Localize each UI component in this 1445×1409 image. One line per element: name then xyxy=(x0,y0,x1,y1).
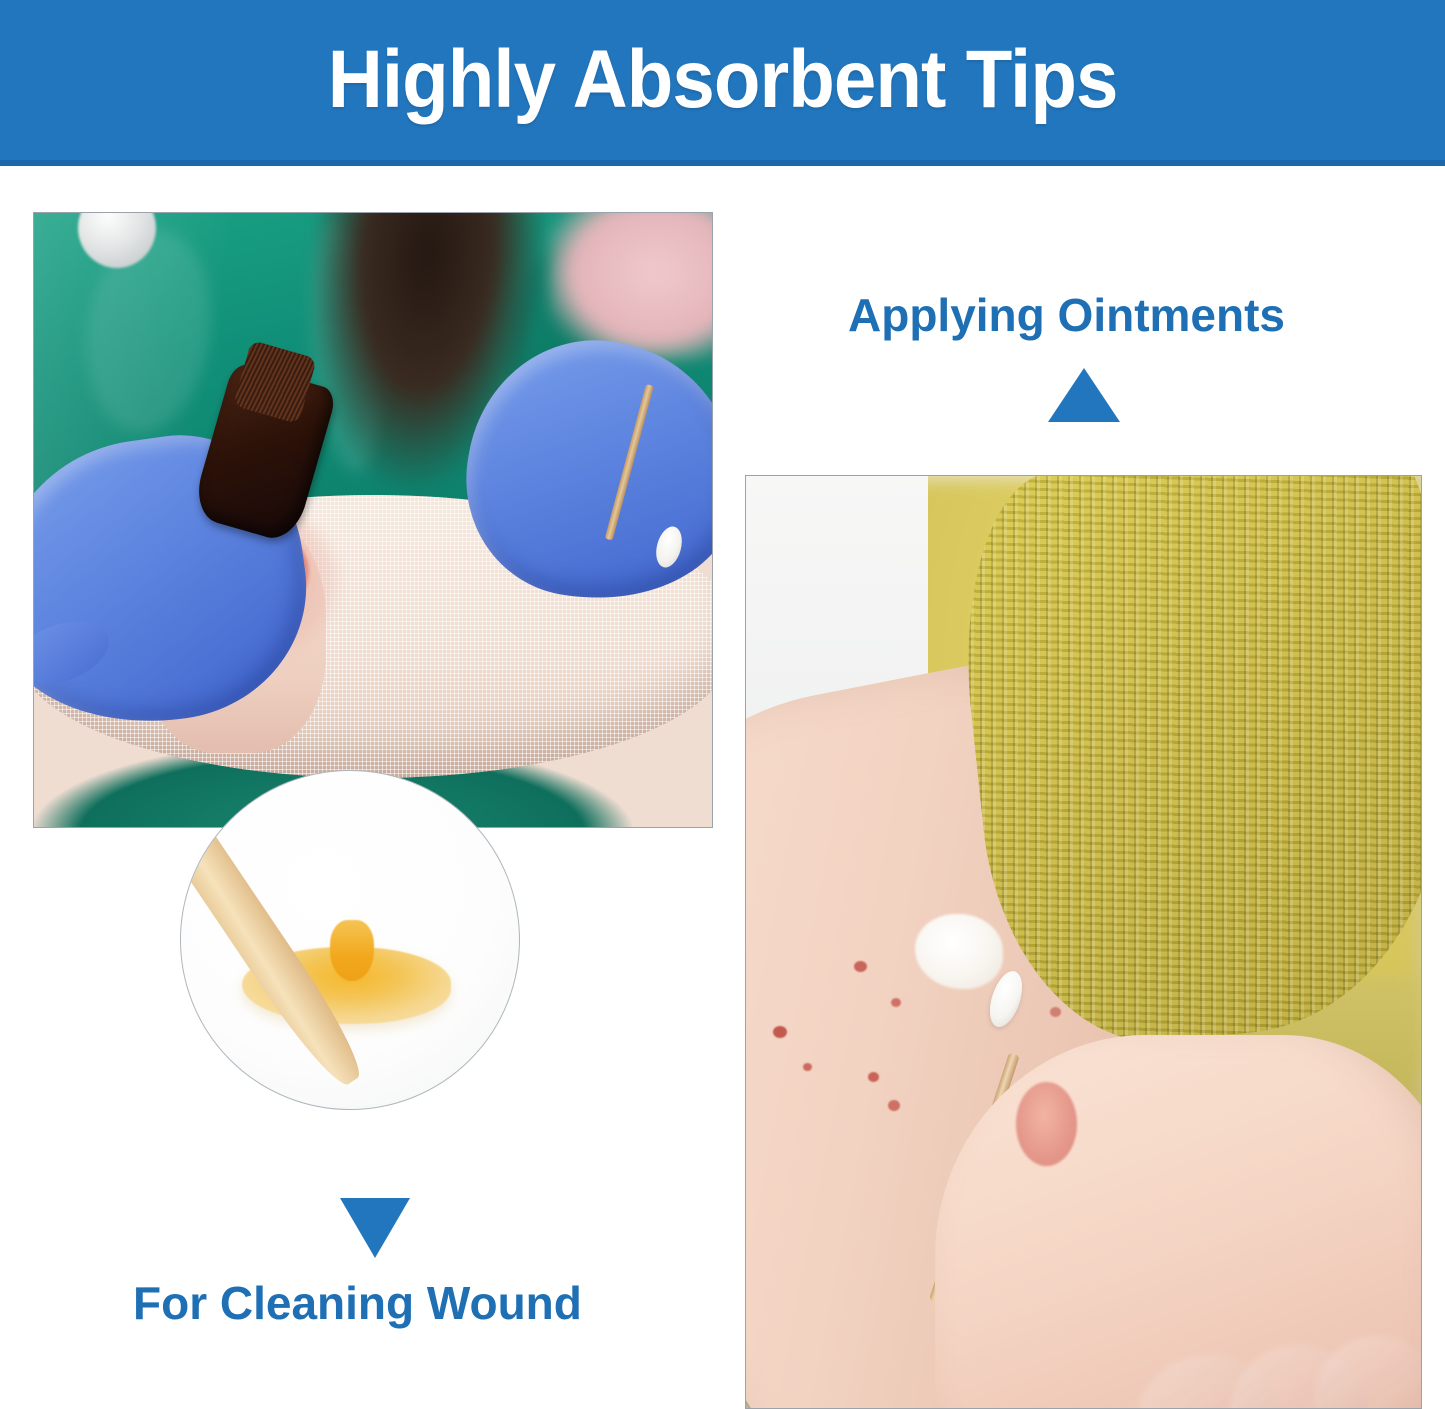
caption-for-cleaning-wound: For Cleaning Wound xyxy=(133,1280,582,1326)
skin-bump xyxy=(773,1026,787,1038)
antiseptic-swab-circle-inset xyxy=(180,770,520,1110)
caption-applying-ointments: Applying Ointments xyxy=(848,292,1285,338)
thumbnail xyxy=(1016,1082,1077,1166)
skin-bump xyxy=(1050,1007,1061,1017)
applying-ointment-photo xyxy=(745,475,1422,1409)
skin-bump xyxy=(891,998,901,1007)
banner-underline-divider xyxy=(0,160,1445,166)
skin-bump xyxy=(854,961,867,972)
finger xyxy=(1308,1329,1422,1409)
triangle-down-icon xyxy=(340,1198,410,1258)
wound-cleaning-photo xyxy=(33,212,713,828)
background-blur-pink xyxy=(549,212,713,360)
page-title: Highly Absorbent Tips xyxy=(328,39,1118,121)
triangle-up-icon xyxy=(1048,368,1120,422)
antiseptic-drip xyxy=(330,920,374,981)
glove-thumb xyxy=(33,610,118,697)
header-banner: Highly Absorbent Tips xyxy=(0,0,1445,160)
hand-holding-swab xyxy=(935,1035,1422,1409)
